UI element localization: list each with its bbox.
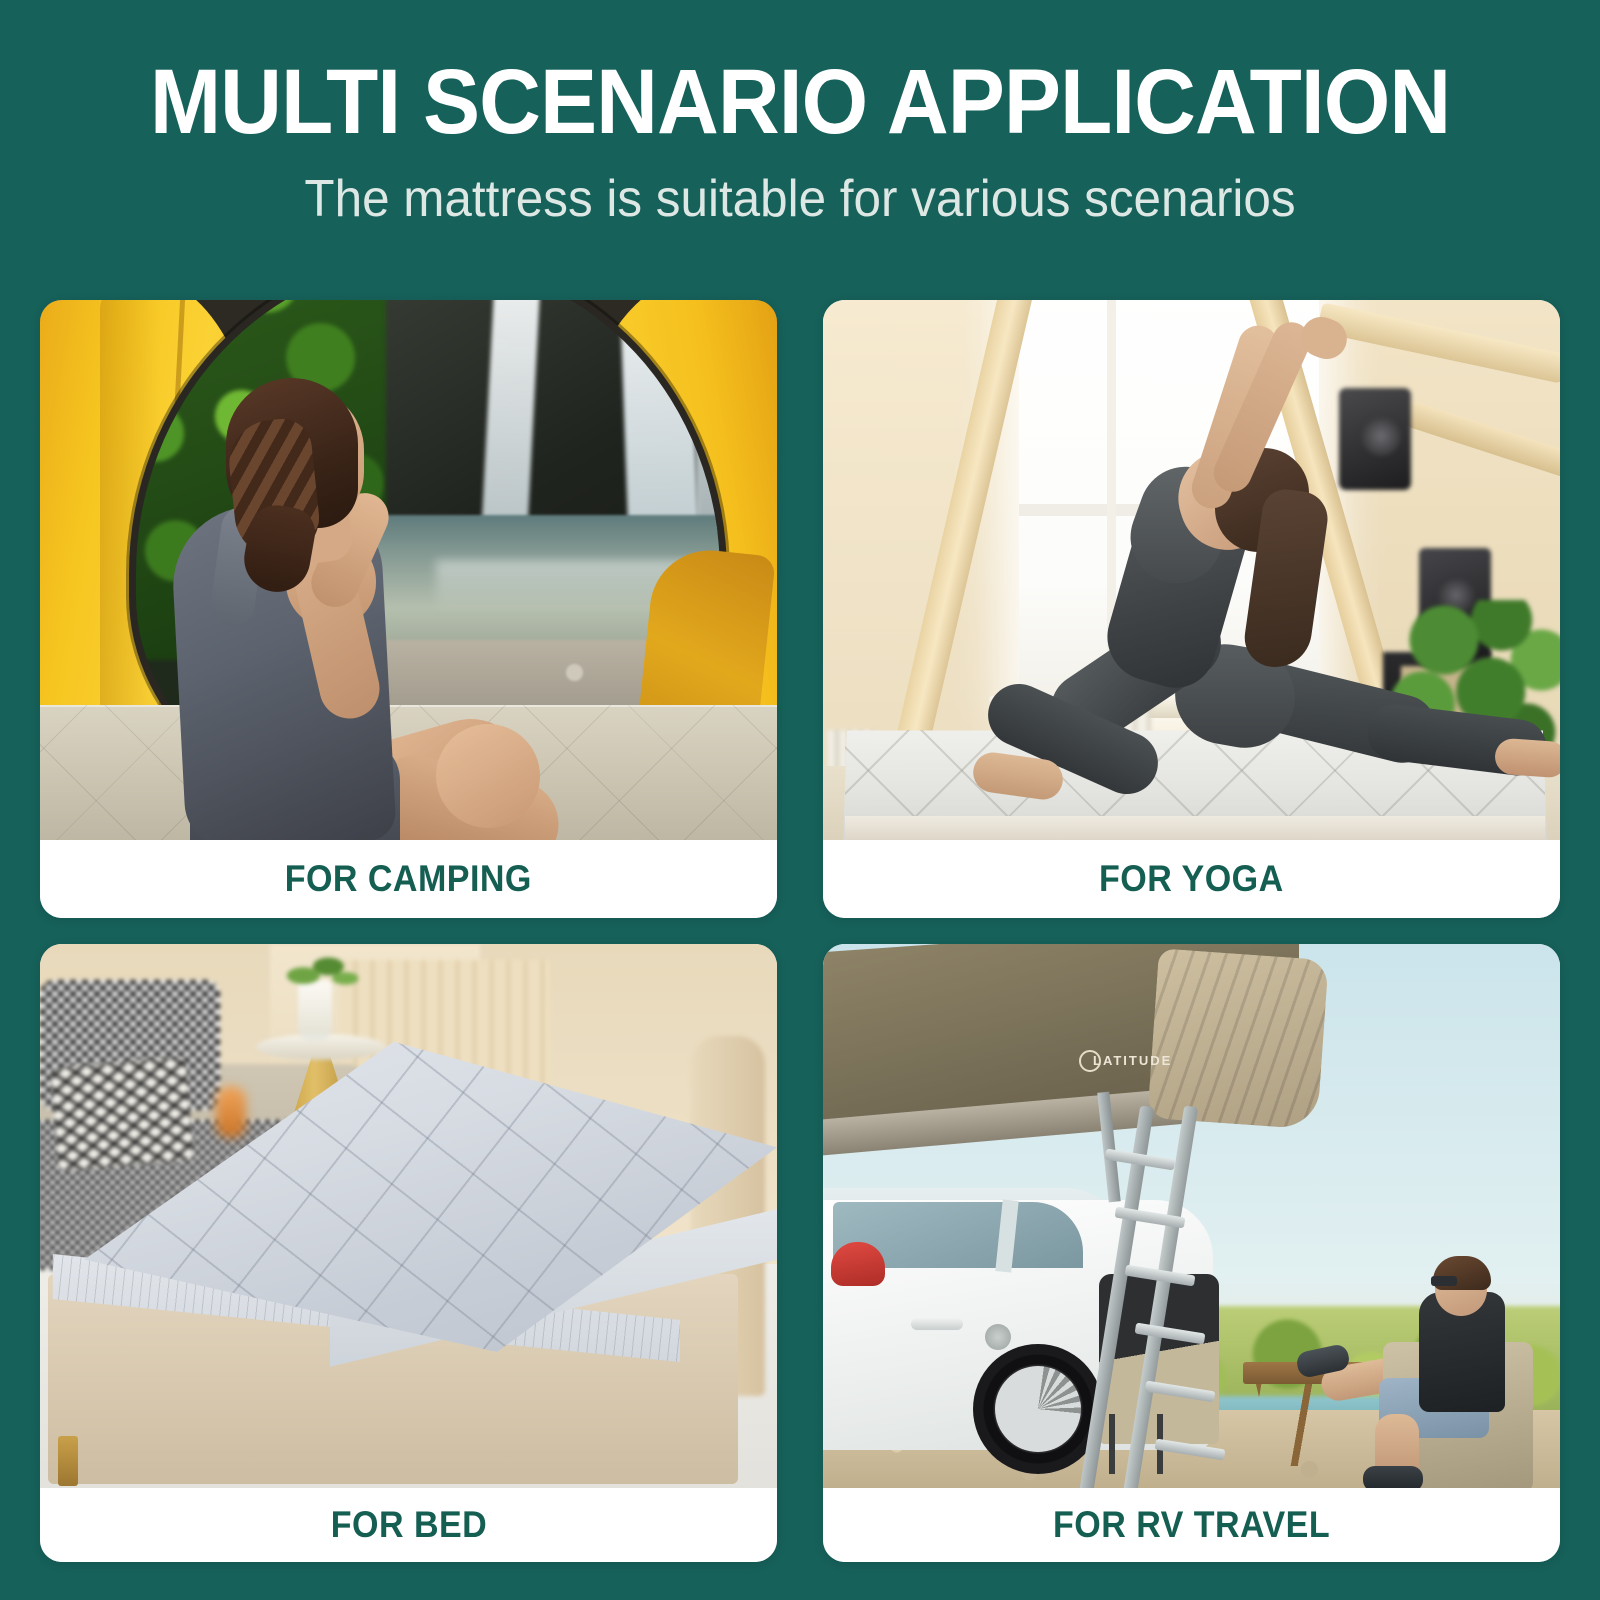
- knee-icon: [436, 724, 540, 828]
- rv-travel-photo: LATITUDE: [823, 944, 1560, 1488]
- scenario-card-bed[interactable]: FOR BED: [40, 944, 777, 1562]
- camping-caption-label: FOR CAMPING: [285, 858, 532, 900]
- tent-brand-label: LATITUDE: [1093, 1052, 1179, 1068]
- car-rim-icon: [995, 1366, 1081, 1452]
- bed-photo: [40, 944, 777, 1488]
- lamp-icon: [216, 1086, 246, 1138]
- man-shoe-icon: [1363, 1466, 1423, 1488]
- car-door-handle-icon: [911, 1318, 963, 1330]
- bed-caption-label: FOR BED: [330, 1504, 486, 1546]
- yoga-caption: FOR YOGA: [823, 840, 1560, 918]
- waterfall-stream-icon: [696, 300, 720, 534]
- speaker-cone-icon: [1361, 416, 1401, 456]
- greenery-icon: [280, 948, 358, 994]
- bed-foot-icon: [58, 1436, 78, 1486]
- tent-fabric-fold-icon: [1147, 948, 1328, 1129]
- page-title: MULTI SCENARIO APPLICATION: [56, 52, 1544, 152]
- scenario-card-rv-travel[interactable]: LATITUDE: [823, 944, 1560, 1562]
- scenario-card-camping[interactable]: FOR CAMPING: [40, 300, 777, 918]
- yoga-caption-label: FOR YOGA: [1099, 858, 1284, 900]
- scenario-card-yoga[interactable]: FOR YOGA: [823, 300, 1560, 918]
- page-subtitle: The mattress is suitable for various sce…: [40, 166, 1560, 232]
- red-bag-icon: [831, 1242, 885, 1286]
- rv-travel-caption: FOR RV TRAVEL: [823, 1488, 1560, 1562]
- camping-photo: [40, 300, 777, 840]
- bed-caption: FOR BED: [40, 1488, 777, 1562]
- header: MULTI SCENARIO APPLICATION The mattress …: [0, 0, 1600, 288]
- camping-caption: FOR CAMPING: [40, 840, 777, 918]
- back-foot-icon: [1494, 738, 1560, 779]
- infographic-page: MULTI SCENARIO APPLICATION The mattress …: [0, 0, 1600, 1600]
- sunglasses-icon: [1431, 1276, 1457, 1286]
- patterned-pillow-icon: [50, 1056, 195, 1171]
- car-badge-icon: [985, 1324, 1011, 1350]
- mattress-side-band-icon: [845, 816, 1545, 840]
- rv-travel-caption-label: FOR RV TRAVEL: [1053, 1504, 1330, 1546]
- yoga-photo: [823, 300, 1560, 840]
- scenario-grid: FOR CAMPING: [40, 300, 1560, 1562]
